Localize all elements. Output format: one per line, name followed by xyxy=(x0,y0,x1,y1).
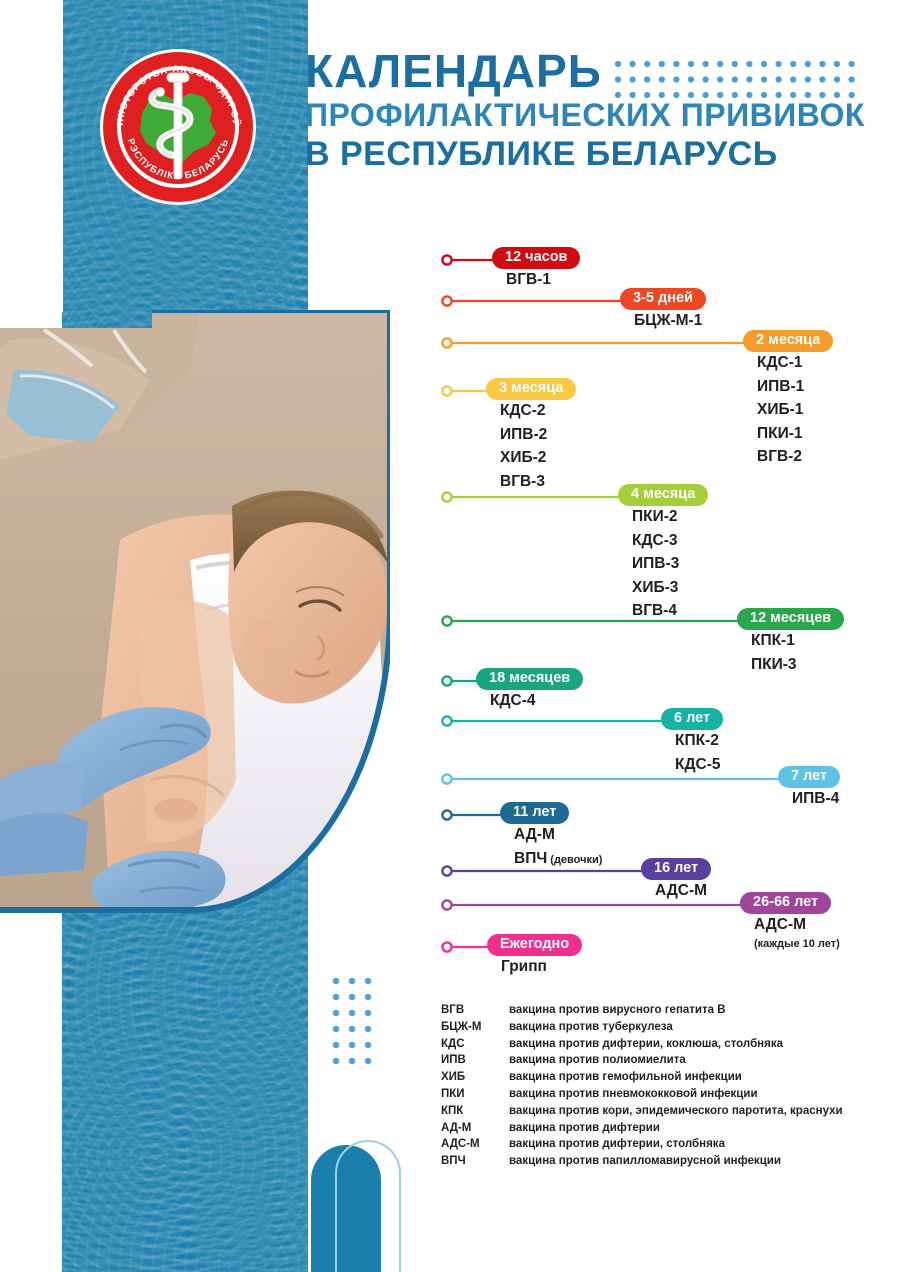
legend-description: вакцина против туберкулеза xyxy=(509,1020,843,1037)
vaccine-item: АДС-М xyxy=(754,913,840,937)
timeline-node-annually[interactable] xyxy=(442,942,451,951)
vaccine-item: АДС-М xyxy=(655,879,707,903)
timeline-node-7-years[interactable] xyxy=(442,774,451,783)
ministry-of-health-logo: МІНІСТЭРСТВА АХОВЫ ЗДАРОЎЯ РЭСПУБЛІКА БЕ… xyxy=(98,47,258,207)
vaccine-item: ВГВ-4 xyxy=(632,599,679,623)
legend-description: вакцина против гемофильной инфекции xyxy=(509,1070,843,1087)
vaccine-list-16-years: АДС-М xyxy=(655,879,707,903)
legend-row: ВГВвакцина против вирусного гепатита В xyxy=(441,1003,843,1020)
decorative-pillar-outline xyxy=(335,1140,401,1272)
vaccine-item: КДС-1 xyxy=(757,351,804,375)
legend-row: ПКИвакцина против пневмококковой инфекци… xyxy=(441,1087,843,1104)
timeline-pill-16-years[interactable]: 16 лет xyxy=(641,858,711,880)
timeline-node-11-years[interactable] xyxy=(442,810,451,819)
vaccine-list-7-years: ИПВ-4 xyxy=(792,787,839,811)
timeline-node-16-years[interactable] xyxy=(442,866,451,875)
vaccine-list-26-66-years: АДС-М(каждые 10 лет) xyxy=(754,913,840,951)
timeline-node-4-months[interactable] xyxy=(442,492,451,501)
legend-description: вакцина против пневмококковой инфекции xyxy=(509,1087,843,1104)
legend-row: ХИБвакцина против гемофильной инфекции xyxy=(441,1070,843,1087)
legend-description: вакцина против полиомиелита xyxy=(509,1053,843,1070)
timeline-node-18-months[interactable] xyxy=(442,676,451,685)
legend-row: КПКвакцина против кори, эпидемического п… xyxy=(441,1104,843,1121)
vaccine-list-2-months: КДС-1ИПВ-1ХИБ-1ПКИ-1ВГВ-2 xyxy=(757,351,804,469)
vaccine-item: БЦЖ-М-1 xyxy=(634,309,702,333)
vaccine-list-6-years: КПК-2КДС-5 xyxy=(675,729,720,776)
timeline-node-26-66-years[interactable] xyxy=(442,900,451,909)
timeline-pill-7-years[interactable]: 7 лет xyxy=(778,766,840,788)
legend-row: ВПЧвакцина против папилломавирусной инфе… xyxy=(441,1154,843,1171)
vaccine-item: ХИБ-2 xyxy=(500,446,547,470)
vaccine-item: ПКИ-1 xyxy=(757,422,804,446)
vaccine-item: ИПВ-4 xyxy=(792,787,839,811)
timeline-node-3-months[interactable] xyxy=(442,386,451,395)
timeline-pill-18-months[interactable]: 18 месяцев xyxy=(476,668,583,690)
legend-abbreviation: ВПЧ xyxy=(441,1154,509,1171)
timeline-pill-3-5-days[interactable]: 3-5 дней xyxy=(620,288,706,310)
timeline-pill-26-66-years[interactable]: 26-66 лет xyxy=(740,892,831,914)
legend-abbreviation: БЦЖ-М xyxy=(441,1020,509,1037)
legend-table: ВГВвакцина против вирусного гепатита ВБЦ… xyxy=(441,1003,843,1171)
vaccine-item-with-note: ВПЧ (девочки) xyxy=(514,847,602,873)
child-vaccination-photo xyxy=(0,310,390,935)
vaccine-item: ИПВ-2 xyxy=(500,423,547,447)
vaccine-item: ВГВ-1 xyxy=(506,268,551,292)
timeline-pill-3-months[interactable]: 3 месяца xyxy=(486,378,576,400)
legend-description: вакцина против дифтерии xyxy=(509,1121,843,1138)
legend-abbreviation: ПКИ xyxy=(441,1087,509,1104)
vaccine-item: ИПВ-3 xyxy=(632,552,679,576)
vaccine-item: ПКИ-2 xyxy=(632,505,679,529)
vaccine-item: ПКИ-3 xyxy=(751,653,797,677)
legend-row: АДС-Мвакцина против дифтерии, столбняка xyxy=(441,1137,843,1154)
legend-description: вакцина против папилломавирусной инфекци… xyxy=(509,1154,843,1171)
header-dot-pattern xyxy=(613,58,863,108)
legend-abbreviation: КДС xyxy=(441,1037,509,1054)
legend-description: вакцина против кори, эпидемического паро… xyxy=(509,1104,843,1121)
timeline-node-2-months[interactable] xyxy=(442,338,451,347)
vaccine-item: КДС-5 xyxy=(675,753,720,777)
vaccine-item: ХИБ-1 xyxy=(757,398,804,422)
vaccine-list-18-months: КДС-4 xyxy=(490,689,535,713)
timeline-pill-12-months[interactable]: 12 месяцев xyxy=(737,608,844,630)
vaccine-item: АД-М xyxy=(514,823,602,847)
ministry-emblem-icon: МІНІСТЭРСТВА АХОВЫ ЗДАРОЎЯ РЭСПУБЛІКА БЕ… xyxy=(98,47,258,207)
legend-row: АД-Мвакцина против дифтерии xyxy=(441,1121,843,1138)
vaccine-item: КДС-4 xyxy=(490,689,535,713)
abbreviations-legend: ВГВвакцина против вирусного гепатита ВБЦ… xyxy=(441,1003,871,1171)
timeline-pill-4-months[interactable]: 4 месяца xyxy=(618,484,708,506)
title-line-3: В РЕСПУБЛИКЕ БЕЛАРУСЬ xyxy=(305,134,885,174)
legend-abbreviation: АДС-М xyxy=(441,1137,509,1154)
vaccine-note: (девочки) xyxy=(547,854,602,866)
legend-description: вакцина против дифтерии, столбняка xyxy=(509,1137,843,1154)
panel-top-white-notch xyxy=(0,0,63,312)
vaccine-item: Грипп xyxy=(501,955,547,979)
timeline-node-12-hours[interactable] xyxy=(442,255,451,264)
timeline-pill-12-hours[interactable]: 12 часов xyxy=(492,247,580,269)
legend-row: КДСвакцина против дифтерии, коклюша, сто… xyxy=(441,1037,843,1054)
vaccine-list-12-months: КПК-1ПКИ-3 xyxy=(751,629,797,676)
timeline-pill-2-months[interactable]: 2 месяца xyxy=(743,330,833,352)
vaccine-item: ВГВ-3 xyxy=(500,470,547,494)
legend-abbreviation: ВГВ xyxy=(441,1003,509,1020)
vaccine-item: КПК-2 xyxy=(675,729,720,753)
vaccine-list-3-months: КДС-2ИПВ-2ХИБ-2ВГВ-3 xyxy=(500,399,547,493)
vaccine-item: ВПЧ xyxy=(514,850,547,867)
vaccine-list-3-5-days: БЦЖ-М-1 xyxy=(634,309,702,333)
legend-row: ИПВвакцина против полиомиелита xyxy=(441,1053,843,1070)
vaccine-item: КПК-1 xyxy=(751,629,797,653)
vaccine-item: КДС-2 xyxy=(500,399,547,423)
vaccine-item: КДС-3 xyxy=(632,529,679,553)
vaccine-footnote: (каждые 10 лет) xyxy=(754,937,840,951)
timeline-node-12-months[interactable] xyxy=(442,616,451,625)
timeline-node-6-years[interactable] xyxy=(442,716,451,725)
vaccine-list-12-hours: ВГВ-1 xyxy=(506,268,551,292)
timeline-pill-11-years[interactable]: 11 лет xyxy=(500,802,569,824)
legend-abbreviation: АД-М xyxy=(441,1121,509,1138)
timeline-pill-6-years[interactable]: 6 лет xyxy=(661,708,723,730)
vaccine-list-4-months: ПКИ-2КДС-3ИПВ-3ХИБ-3ВГВ-4 xyxy=(632,505,679,623)
vaccine-item: ИПВ-1 xyxy=(757,375,804,399)
timeline-node-3-5-days[interactable] xyxy=(442,296,451,305)
legend-row: БЦЖ-Мвакцина против туберкулеза xyxy=(441,1020,843,1037)
vaccine-list-annually: Грипп xyxy=(501,955,547,979)
timeline-pill-annually[interactable]: Ежегодно xyxy=(487,934,582,956)
decorative-dot-grid xyxy=(330,975,390,1075)
vaccine-list-11-years: АД-МВПЧ (девочки) xyxy=(514,823,602,872)
legend-description: вакцина против вирусного гепатита В xyxy=(509,1003,843,1020)
vaccine-item: ХИБ-3 xyxy=(632,576,679,600)
legend-description: вакцина против дифтерии, коклюша, столбн… xyxy=(509,1037,843,1054)
legend-abbreviation: КПК xyxy=(441,1104,509,1121)
legend-abbreviation: ИПВ xyxy=(441,1053,509,1070)
legend-abbreviation: ХИБ xyxy=(441,1070,509,1087)
vaccine-item: ВГВ-2 xyxy=(757,445,804,469)
